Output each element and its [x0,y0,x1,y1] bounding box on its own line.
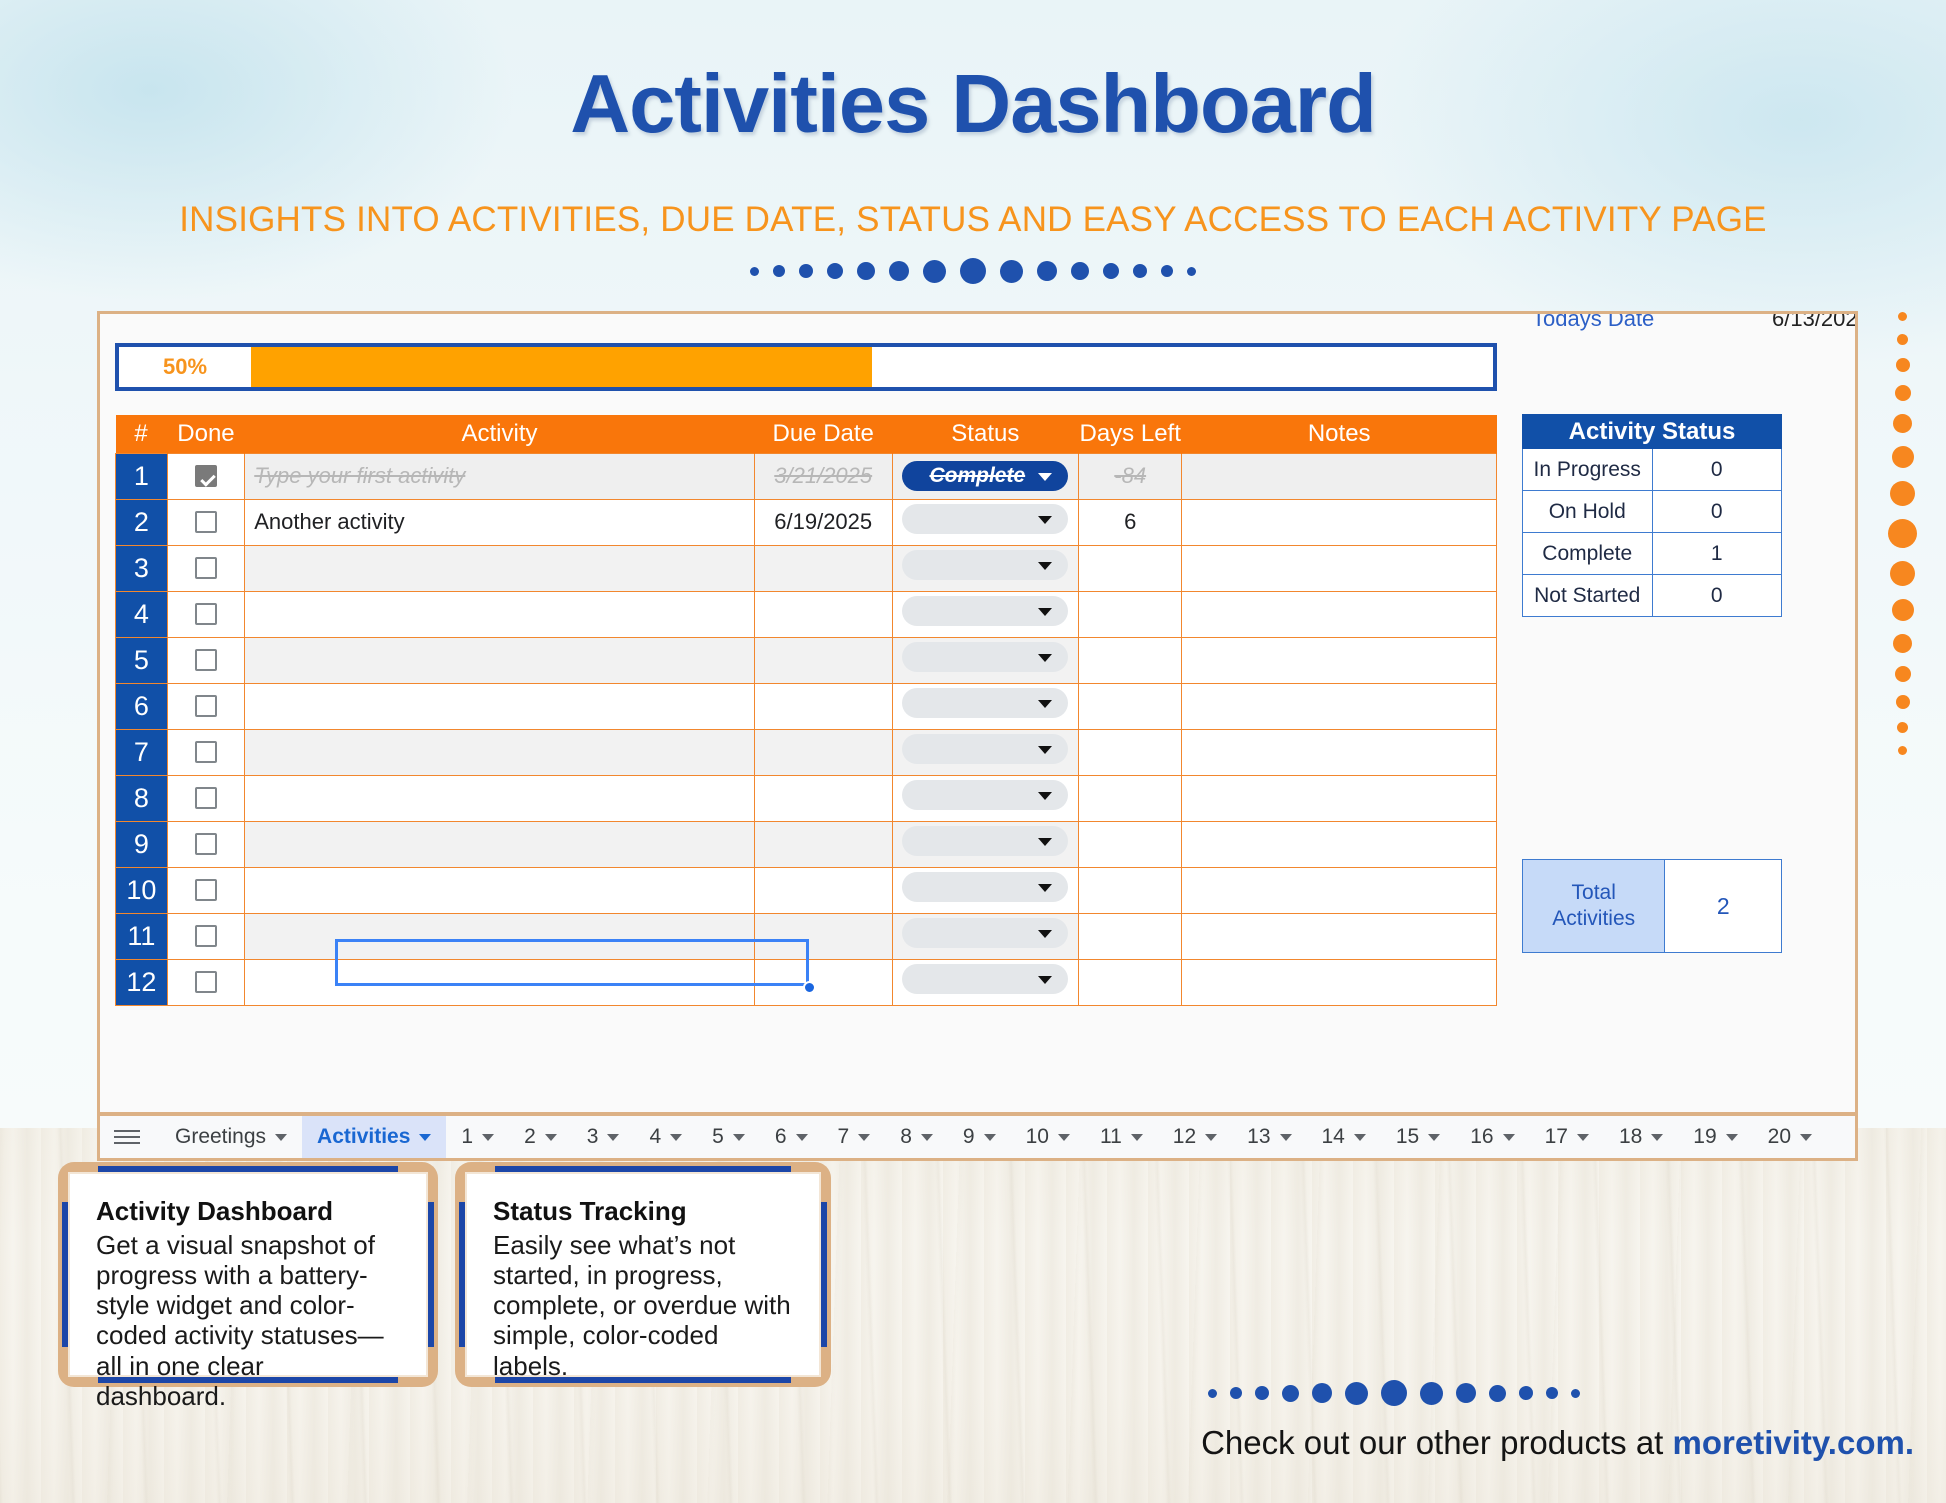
table-row: 1Type your first activity3/21/2025Comple… [116,453,1497,499]
chevron-down-icon[interactable] [1038,838,1052,846]
table-row: 2Another activity6/19/20256 [116,499,1497,545]
days-left-cell [1079,591,1182,637]
due-date-text: 6/19/2025 [774,509,872,534]
decorative-dot [1255,1386,1269,1400]
activity-text: Type your first activity [254,463,465,488]
all-sheets-menu-icon[interactable] [114,1128,140,1146]
row-number: 1 [116,453,168,499]
notes-cell[interactable] [1182,867,1497,913]
days-left-cell [1079,637,1182,683]
days-left-text: -84 [1114,463,1146,488]
row-number: 12 [116,959,168,1005]
days-left-cell [1079,545,1182,591]
decorative-dot [1456,1383,1476,1403]
sheet-tab-6[interactable]: 6 [760,1116,823,1158]
activity-cell[interactable]: Another activity [245,499,755,545]
sheet-tab-2[interactable]: 2 [509,1116,572,1158]
status-dropdown[interactable] [902,642,1068,672]
decorative-dot [1890,561,1915,586]
days-left-cell [1079,867,1182,913]
status-cell[interactable] [892,821,1078,867]
status-cell[interactable] [892,775,1078,821]
chevron-down-icon[interactable] [1280,1134,1292,1141]
decorative-dot [750,267,759,276]
chevron-down-icon[interactable] [1038,700,1052,708]
chevron-down-icon[interactable] [607,1134,619,1141]
due-date-text: 3/21/2025 [774,463,872,488]
footer-promo-text: Check out our other products at moretivi… [0,1424,1914,1462]
progress-battery-widget: 50% [115,343,1497,391]
status-panel-label: On Hold [1523,491,1653,533]
activity-cell[interactable] [245,775,755,821]
tab-label: Greetings [175,1125,266,1149]
status-cell[interactable] [892,683,1078,729]
chevron-down-icon[interactable] [1205,1134,1217,1141]
tab-label: 7 [838,1125,850,1149]
spreadsheet-panel: Todays Date 6/13/2025 50% # Done Activit… [97,311,1858,1115]
due-date-cell[interactable] [754,821,892,867]
activity-cell[interactable] [245,545,755,591]
status-cell[interactable] [892,913,1078,959]
status-cell[interactable] [892,545,1078,591]
tab-label: 12 [1173,1125,1196,1149]
status-dropdown[interactable] [902,688,1068,718]
total-activities-label: Total Activities [1523,860,1665,953]
total-activities-row: Total Activities 2 [1523,860,1782,953]
tab-label: 14 [1322,1125,1345,1149]
row-number: 4 [116,591,168,637]
decorative-dot [1282,1385,1299,1402]
checkbox-unchecked-icon[interactable] [195,511,217,533]
decorative-dot [1519,1386,1533,1400]
due-date-cell[interactable] [754,959,892,1005]
notes-cell[interactable] [1182,637,1497,683]
tab-label: 8 [900,1125,912,1149]
status-panel-count: 0 [1652,449,1782,491]
sheet-tab-8[interactable]: 8 [885,1116,948,1158]
sheet-tab-18[interactable]: 18 [1604,1116,1678,1158]
days-left-cell [1079,959,1182,1005]
activity-status-panel: Activity Status In Progress0On Hold0Comp… [1522,414,1782,617]
chevron-down-icon[interactable] [1038,516,1052,524]
due-date-cell[interactable]: 3/21/2025 [754,453,892,499]
done-cell[interactable] [167,545,245,591]
done-cell[interactable] [167,821,245,867]
decorative-dot [1133,264,1147,278]
chevron-down-icon[interactable] [796,1134,808,1141]
decorative-dot [1898,746,1907,755]
tab-label: Activities [317,1125,410,1149]
progress-fill [251,347,872,387]
tab-label: 1 [461,1125,473,1149]
chevron-down-icon[interactable] [1038,746,1052,754]
card-body: Get a visual snapshot of progress with a… [96,1230,400,1411]
done-cell[interactable] [167,775,245,821]
total-activities-label-line1: Total [1572,881,1616,904]
chevron-down-icon[interactable] [275,1134,287,1141]
row-number: 3 [116,545,168,591]
chevron-down-icon[interactable] [1503,1134,1515,1141]
row-number: 6 [116,683,168,729]
status-panel-body: In Progress0On Hold0Complete1Not Started… [1523,449,1782,617]
due-date-cell[interactable] [754,867,892,913]
status-dropdown[interactable] [902,504,1068,534]
status-dropdown[interactable] [902,826,1068,856]
tab-label: 18 [1619,1125,1642,1149]
tab-label: 5 [712,1125,724,1149]
chevron-down-icon[interactable] [858,1134,870,1141]
decorative-dot [1893,414,1912,433]
tab-label: 4 [649,1125,661,1149]
sheet-tab-16[interactable]: 16 [1455,1116,1529,1158]
activity-cell[interactable] [245,591,755,637]
col-header-activity[interactable]: Activity [245,415,755,453]
fill-handle[interactable] [803,981,816,994]
sheet-tab-7[interactable]: 7 [823,1116,886,1158]
table-row: 8 [116,775,1497,821]
done-cell[interactable] [167,959,245,1005]
table-row: 6 [116,683,1497,729]
days-left-cell: -84 [1079,453,1182,499]
notes-cell[interactable] [1182,499,1497,545]
decorative-dot [1893,634,1912,653]
sheet-tab-15[interactable]: 15 [1381,1116,1455,1158]
decorative-dot [1888,519,1917,548]
sheet-tab-1[interactable]: 1 [446,1116,509,1158]
status-cell[interactable] [892,591,1078,637]
tab-label: 6 [775,1125,787,1149]
activity-cell[interactable] [245,637,755,683]
footer-promo-label: Check out our other products at [1201,1424,1672,1461]
footer-brand-link[interactable]: moretivity.com. [1673,1424,1914,1461]
status-dropdown[interactable] [902,780,1068,810]
due-date-cell[interactable] [754,591,892,637]
chevron-down-icon[interactable] [1038,930,1052,938]
decorative-dot [1037,261,1057,281]
chevron-down-icon[interactable] [1038,654,1052,662]
checkbox-unchecked-icon[interactable] [195,649,217,671]
decorative-dot [1000,260,1023,283]
sheet-tab-5[interactable]: 5 [697,1116,760,1158]
decorative-dot [1895,666,1911,682]
days-left-text: 6 [1124,509,1136,534]
tab-label: 13 [1247,1125,1270,1149]
decorative-dot [857,262,875,280]
notes-cell[interactable] [1182,683,1497,729]
notes-cell[interactable] [1182,729,1497,775]
row-number: 8 [116,775,168,821]
decorative-dot [960,258,986,284]
chevron-down-icon[interactable] [1058,1134,1070,1141]
table-row: 3 [116,545,1497,591]
due-date-cell[interactable] [754,775,892,821]
decorative-dot [827,263,843,279]
status-cell[interactable] [892,867,1078,913]
decorative-dot [1230,1387,1242,1399]
decorative-dot [1898,312,1907,321]
activity-cell[interactable] [245,913,755,959]
chevron-down-icon[interactable] [545,1134,557,1141]
status-panel-row: In Progress0 [1523,449,1782,491]
checkbox-unchecked-icon[interactable] [195,695,217,717]
chevron-down-icon[interactable] [1038,562,1052,570]
days-left-cell [1079,913,1182,959]
col-header-days-left[interactable]: Days Left [1079,415,1182,453]
decorative-dot [923,260,946,283]
notes-cell[interactable] [1182,591,1497,637]
status-panel-count: 0 [1652,575,1782,617]
sheet-top-info-row: Todays Date 6/13/2025 [100,314,1855,336]
total-activities-box: Total Activities 2 [1522,859,1782,953]
decorative-dot [1897,334,1908,345]
tab-label: 2 [524,1125,536,1149]
notes-cell[interactable] [1182,821,1497,867]
done-cell[interactable] [167,913,245,959]
row-number: 5 [116,637,168,683]
notes-cell[interactable] [1182,545,1497,591]
done-cell[interactable] [167,867,245,913]
decorative-dot [799,264,813,278]
sheet-tab-bar: GreetingsActivities123456789101112131415… [97,1113,1858,1161]
tab-label: 20 [1768,1125,1791,1149]
due-date-cell[interactable] [754,545,892,591]
status-panel-row: Not Started0 [1523,575,1782,617]
sheet-tab-3[interactable]: 3 [572,1116,635,1158]
checkbox-unchecked-icon[interactable] [195,603,217,625]
sheet-tab-10[interactable]: 10 [1011,1116,1085,1158]
chevron-down-icon[interactable] [482,1134,494,1141]
due-date-cell[interactable] [754,913,892,959]
chevron-down-icon[interactable] [419,1134,431,1141]
chevron-down-icon[interactable] [733,1134,745,1141]
total-activities-value: 2 [1665,860,1782,953]
chevron-down-icon[interactable] [670,1134,682,1141]
status-panel-title: Activity Status [1523,415,1782,449]
decorative-dot [1897,722,1908,733]
table-row: 9 [116,821,1497,867]
decorative-dot [1381,1380,1407,1406]
chevron-down-icon[interactable] [1800,1134,1812,1141]
activity-cell[interactable] [245,867,755,913]
sheet-tab-12[interactable]: 12 [1158,1116,1232,1158]
status-panel-row: On Hold0 [1523,491,1782,533]
status-panel-count: 1 [1652,533,1782,575]
checkbox-unchecked-icon[interactable] [195,787,217,809]
sheet-tab-greetings[interactable]: Greetings [160,1116,302,1158]
status-value-text: Complete [929,464,1025,488]
sheet-tab-13[interactable]: 13 [1232,1116,1306,1158]
activity-cell[interactable] [245,821,755,867]
decorative-dot [1571,1389,1580,1398]
chevron-down-icon[interactable] [1038,792,1052,800]
col-header-status[interactable]: Status [892,415,1078,453]
checkbox-unchecked-icon[interactable] [195,925,217,947]
activity-cell[interactable] [245,959,755,1005]
decorative-dot [1896,695,1910,709]
decorative-dot [1420,1382,1443,1405]
todays-date-label: Todays Date [1532,311,1654,332]
row-number: 2 [116,499,168,545]
chevron-down-icon[interactable] [1038,976,1052,984]
chevron-down-icon[interactable] [1651,1134,1663,1141]
checkbox-unchecked-icon[interactable] [195,741,217,763]
decorative-dot [1892,446,1914,468]
chevron-down-icon[interactable] [1577,1134,1589,1141]
table-row: 7 [116,729,1497,775]
status-dropdown[interactable] [902,964,1068,994]
card-title: Activity Dashboard [96,1196,400,1227]
activity-cell[interactable] [245,683,755,729]
decorative-dot-column-right [1888,312,1917,755]
decorative-dot [1071,262,1089,280]
status-dropdown[interactable] [902,550,1068,580]
done-cell[interactable] [167,453,245,499]
card-inner: Activity Dashboard Get a visual snapshot… [68,1172,428,1377]
status-panel-label: Complete [1523,533,1653,575]
chevron-down-icon[interactable] [1038,884,1052,892]
progress-track [251,347,1493,387]
col-header-done[interactable]: Done [167,415,245,453]
row-number: 11 [116,913,168,959]
chevron-down-icon[interactable] [1726,1134,1738,1141]
col-header-notes[interactable]: Notes [1182,415,1497,453]
chevron-down-icon[interactable] [1038,608,1052,616]
table-row: 10 [116,867,1497,913]
sheet-tab-activities[interactable]: Activities [302,1116,446,1158]
chevron-down-icon[interactable] [1428,1134,1440,1141]
status-cell[interactable] [892,729,1078,775]
sheet-tab-9[interactable]: 9 [948,1116,1011,1158]
row-number: 7 [116,729,168,775]
decorative-dot [1892,599,1914,621]
page-title: Activities Dashboard [0,56,1946,152]
notes-cell[interactable] [1182,913,1497,959]
days-left-cell [1079,821,1182,867]
decorative-dot [1895,385,1911,401]
decorative-dot [1187,267,1196,276]
decorative-dot [889,261,909,281]
card-body: Easily see what’s not started, in progre… [493,1230,793,1381]
sheet-tab-4[interactable]: 4 [634,1116,697,1158]
activities-table: # Done Activity Due Date Status Days Lef… [115,415,1497,1006]
notes-cell[interactable] [1182,959,1497,1005]
days-left-cell [1079,683,1182,729]
decorative-dot [1896,358,1910,372]
tab-label: 11 [1100,1125,1122,1149]
total-activities-label-line2: Activities [1552,907,1635,930]
status-cell[interactable] [892,499,1078,545]
col-header-number[interactable]: # [116,415,168,453]
progress-percent-label: 50% [119,347,251,387]
status-panel-label: Not Started [1523,575,1653,617]
status-dropdown[interactable] [902,918,1068,948]
done-cell[interactable] [167,683,245,729]
chevron-down-icon[interactable] [1131,1134,1143,1141]
decorative-dot [1546,1387,1558,1399]
status-panel-header-row: Activity Status [1523,415,1782,449]
activity-text: Another activity [254,509,404,534]
status-panel-label: In Progress [1523,449,1653,491]
feature-card-status-tracking: Status Tracking Easily see what’s not st… [455,1162,831,1387]
checkbox-checked-icon[interactable] [195,465,217,487]
activity-cell[interactable] [245,729,755,775]
decorative-dot [1890,481,1915,506]
chevron-down-icon[interactable] [984,1134,996,1141]
decorative-dot [1312,1383,1332,1403]
chevron-down-icon[interactable] [921,1134,933,1141]
status-cell[interactable]: Complete [892,453,1078,499]
activities-table-body: 1Type your first activity3/21/2025Comple… [116,453,1497,1005]
decorative-dot-strip-footer [1208,1381,1580,1405]
days-left-cell: 6 [1079,499,1182,545]
notes-cell[interactable] [1182,453,1497,499]
tab-label: 19 [1693,1125,1716,1149]
decorative-dot-strip [0,258,1946,284]
card-inner: Status Tracking Easily see what’s not st… [465,1172,821,1377]
page-subtitle: INSIGHTS INTO ACTIVITIES, DUE DATE, STAT… [0,200,1946,240]
due-date-cell[interactable] [754,637,892,683]
todays-date-value: 6/13/2025 [1772,311,1858,332]
checkbox-unchecked-icon[interactable] [195,971,217,993]
done-cell[interactable] [167,729,245,775]
table-header-row: # Done Activity Due Date Status Days Lef… [116,415,1497,453]
feature-card-activity-dashboard: Activity Dashboard Get a visual snapshot… [58,1162,438,1387]
decorative-dot [1208,1389,1217,1398]
status-dropdown[interactable]: Complete [902,461,1068,491]
status-dropdown[interactable] [902,734,1068,764]
done-cell[interactable] [167,499,245,545]
row-number: 9 [116,821,168,867]
decorative-dot [1161,265,1173,277]
days-left-cell [1079,775,1182,821]
checkbox-unchecked-icon[interactable] [195,833,217,855]
tab-label: 17 [1545,1125,1568,1149]
col-header-due-date[interactable]: Due Date [754,415,892,453]
status-cell[interactable] [892,959,1078,1005]
status-dropdown[interactable] [902,872,1068,902]
tabs-container: GreetingsActivities123456789101112131415… [160,1116,1827,1158]
tab-label: 15 [1396,1125,1419,1149]
due-date-cell[interactable]: 6/19/2025 [754,499,892,545]
decorative-dot [773,265,785,277]
row-number: 10 [116,867,168,913]
chevron-down-icon[interactable] [1354,1134,1366,1141]
status-cell[interactable] [892,637,1078,683]
days-left-cell [1079,729,1182,775]
due-date-cell[interactable] [754,683,892,729]
done-cell[interactable] [167,637,245,683]
notes-cell[interactable] [1182,775,1497,821]
checkbox-unchecked-icon[interactable] [195,557,217,579]
status-panel-count: 0 [1652,491,1782,533]
chevron-down-icon[interactable] [1038,473,1052,481]
sheet-tab-11[interactable]: 11 [1085,1116,1158,1158]
status-dropdown[interactable] [902,596,1068,626]
sheet-tab-20[interactable]: 20 [1753,1116,1827,1158]
decorative-dot [1345,1382,1368,1405]
sheet-tab-14[interactable]: 14 [1307,1116,1381,1158]
done-cell[interactable] [167,591,245,637]
decorative-dot [1489,1385,1506,1402]
sheet-tab-19[interactable]: 19 [1678,1116,1752,1158]
table-row: 5 [116,637,1497,683]
activity-cell[interactable]: Type your first activity [245,453,755,499]
due-date-cell[interactable] [754,729,892,775]
tab-label: 9 [963,1125,975,1149]
sheet-tab-17[interactable]: 17 [1530,1116,1604,1158]
tab-label: 16 [1470,1125,1493,1149]
checkbox-unchecked-icon[interactable] [195,879,217,901]
